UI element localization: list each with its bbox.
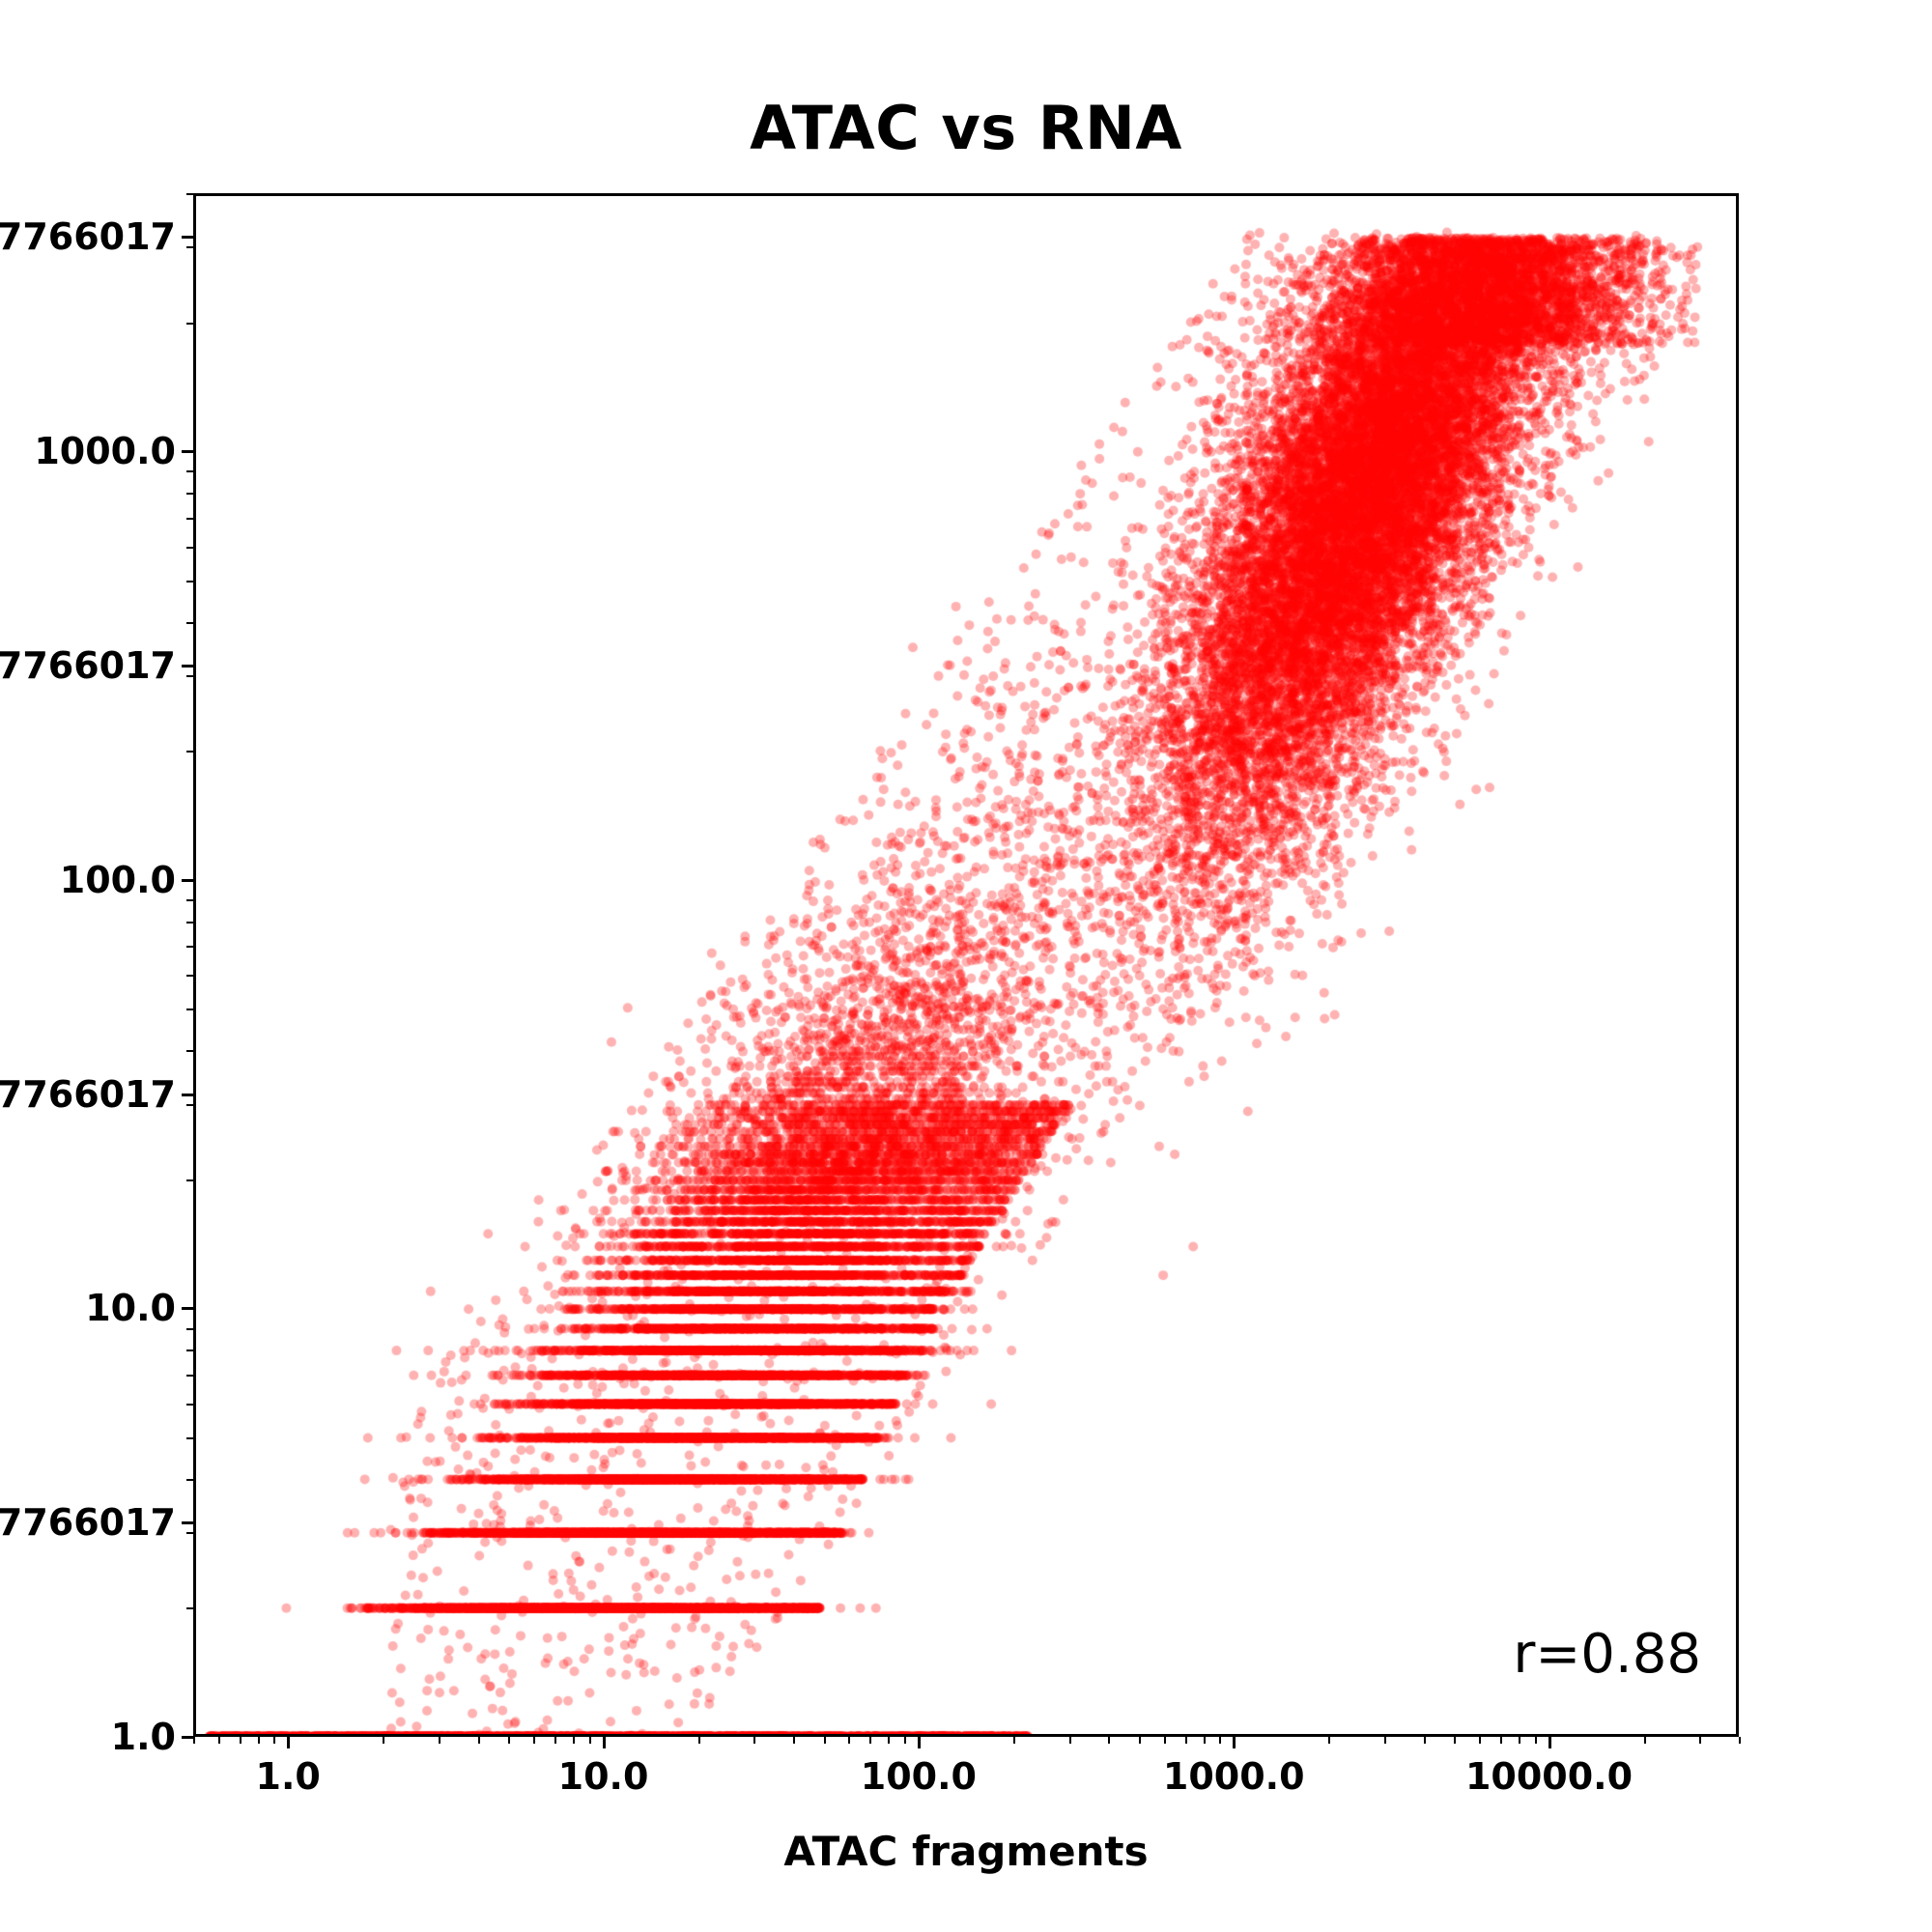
x-axis-minor-tick xyxy=(1424,1737,1426,1744)
y-axis-minor-tick xyxy=(186,470,193,472)
x-axis-minor-tick xyxy=(1164,1737,1166,1744)
y-axis-minor-tick xyxy=(186,622,193,624)
y-axis-minor-tick xyxy=(186,1050,193,1052)
x-axis-minor-tick xyxy=(848,1737,850,1744)
x-axis-label: ATAC fragments xyxy=(193,1828,1739,1875)
x-axis-minor-tick xyxy=(508,1737,510,1744)
x-axis-minor-tick xyxy=(1139,1737,1141,1744)
y-axis-tick-mark xyxy=(182,879,193,882)
y-axis-tick-label: 1000.0 xyxy=(0,433,176,469)
x-axis-minor-tick xyxy=(240,1737,241,1744)
y-axis-minor-tick xyxy=(186,518,193,520)
y-axis-minor-tick xyxy=(186,547,193,549)
figure-canvas: ATAC vs RNA 62.277660171000.06.227766017… xyxy=(0,0,1932,1932)
y-axis-minor-tick xyxy=(186,946,193,948)
y-axis-tick-mark xyxy=(182,450,193,453)
y-axis-minor-tick xyxy=(186,1404,193,1406)
y-axis-minor-tick xyxy=(186,1479,193,1481)
x-axis-minor-tick xyxy=(1644,1737,1646,1744)
x-axis-minor-tick xyxy=(1739,1737,1741,1744)
x-axis-tick-label: 100.0 xyxy=(774,1758,1064,1795)
x-axis-minor-tick xyxy=(753,1737,755,1744)
x-axis-minor-tick xyxy=(533,1737,535,1744)
y-axis-tick-label: 100.0 xyxy=(0,862,176,898)
y-axis-minor-tick xyxy=(186,581,193,582)
x-axis-minor-tick xyxy=(273,1737,275,1744)
y-axis-minor-tick xyxy=(186,323,193,325)
x-axis-minor-tick xyxy=(478,1737,480,1744)
y-axis-minor-tick xyxy=(186,246,193,248)
y-axis-tick-label: 10.0 xyxy=(0,1290,176,1326)
y-axis-minor-tick xyxy=(186,1104,193,1106)
x-axis-minor-tick xyxy=(1108,1737,1110,1744)
x-axis-minor-tick xyxy=(589,1737,591,1744)
x-axis-tick-label: 1.0 xyxy=(143,1758,433,1795)
y-axis-tick-mark xyxy=(182,665,193,668)
x-axis-minor-tick xyxy=(1013,1737,1015,1744)
correlation-annotation: r=0.88 xyxy=(1513,1623,1701,1686)
y-axis-minor-tick xyxy=(186,675,193,677)
x-axis-tick-label: 10000.0 xyxy=(1405,1758,1694,1795)
x-axis-tick-mark xyxy=(918,1737,921,1748)
x-axis-minor-tick xyxy=(869,1737,871,1744)
y-axis-minor-tick xyxy=(186,1350,193,1351)
x-axis-minor-tick xyxy=(1328,1737,1330,1744)
y-axis-tick-label: 62.27766017 xyxy=(0,218,176,255)
x-axis-tick-mark xyxy=(603,1737,606,1748)
x-axis-tick-mark xyxy=(287,1737,290,1748)
y-axis-minor-tick xyxy=(186,1532,193,1534)
x-axis-minor-tick xyxy=(1219,1737,1221,1744)
x-axis-minor-tick xyxy=(1185,1737,1187,1744)
y-axis-minor-tick xyxy=(186,751,193,753)
y-axis-tick-mark xyxy=(182,1736,193,1739)
y-axis-minor-tick xyxy=(186,1328,193,1330)
y-axis-minor-tick xyxy=(186,975,193,977)
y-axis-minor-tick xyxy=(186,1179,193,1181)
x-axis-minor-tick xyxy=(218,1737,220,1744)
x-axis-tick-mark xyxy=(1233,1737,1236,1748)
y-axis-tick-mark xyxy=(182,1094,193,1096)
y-axis-minor-tick xyxy=(186,1607,193,1609)
x-axis-minor-tick xyxy=(383,1737,384,1744)
plot-area: r=0.88 xyxy=(193,193,1739,1737)
x-axis-minor-tick xyxy=(904,1737,906,1744)
x-axis-minor-tick xyxy=(439,1737,440,1744)
x-axis-tick-mark xyxy=(1548,1737,1551,1748)
x-axis-minor-tick xyxy=(1384,1737,1386,1744)
y-axis-tick-label: 6.227766017 xyxy=(0,647,176,684)
y-axis-minor-tick xyxy=(186,922,193,923)
page-title: ATAC vs RNA xyxy=(0,93,1932,163)
y-axis-minor-tick xyxy=(186,1375,193,1377)
x-axis-minor-tick xyxy=(1519,1737,1520,1744)
scatter-points-layer xyxy=(196,196,1739,1737)
x-axis-minor-tick xyxy=(1069,1737,1071,1744)
x-axis-minor-tick xyxy=(1535,1737,1537,1744)
x-axis-minor-tick xyxy=(554,1737,556,1744)
y-axis-tick-mark xyxy=(182,1307,193,1310)
x-axis-minor-tick xyxy=(1500,1737,1502,1744)
x-axis-minor-tick xyxy=(193,1737,195,1744)
y-axis-tick-mark xyxy=(182,236,193,239)
x-axis-minor-tick xyxy=(1479,1737,1481,1744)
y-axis-tick-label: 6227766017 xyxy=(0,1076,176,1113)
x-axis-minor-tick xyxy=(258,1737,260,1744)
y-axis-tick-label: 6227766017 xyxy=(0,1504,176,1541)
x-axis-minor-tick xyxy=(1699,1737,1701,1744)
x-axis-minor-tick xyxy=(1204,1737,1206,1744)
y-axis-minor-tick xyxy=(186,899,193,901)
x-axis-tick-label: 10.0 xyxy=(459,1758,749,1795)
y-axis-tick-label: 1.0 xyxy=(0,1719,176,1755)
x-axis-minor-tick xyxy=(573,1737,575,1744)
x-axis-minor-tick xyxy=(1454,1737,1456,1744)
y-axis-minor-tick xyxy=(186,193,193,195)
x-axis-tick-label: 1000.0 xyxy=(1089,1758,1378,1795)
y-axis-tick-mark xyxy=(182,1521,193,1524)
y-axis-minor-tick xyxy=(186,493,193,495)
x-axis-minor-tick xyxy=(698,1737,700,1744)
y-axis-minor-tick xyxy=(186,1009,193,1010)
x-axis-minor-tick xyxy=(824,1737,826,1744)
x-axis-minor-tick xyxy=(888,1737,890,1744)
y-axis-minor-tick xyxy=(186,1437,193,1439)
x-axis-minor-tick xyxy=(793,1737,795,1744)
